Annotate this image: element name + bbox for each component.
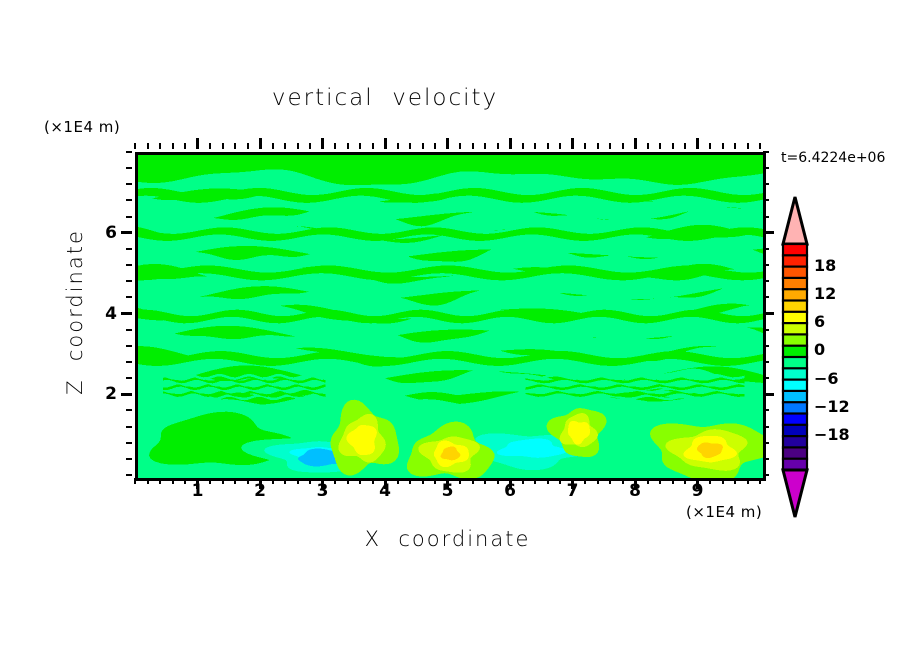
x-tick-minor-top [222, 143, 224, 149]
y-tick-label: 2 [87, 384, 117, 404]
colorbar-tick-label: 18 [814, 256, 836, 275]
y-tick-minor [126, 280, 132, 282]
y-tick-minor-right [763, 280, 769, 282]
x-tick-minor-top [584, 143, 586, 149]
y-tick-label: 6 [87, 223, 117, 243]
x-tick-minor [759, 478, 761, 484]
y-tick-minor [126, 361, 132, 363]
x-tick-minor [609, 478, 611, 484]
timestamp-annotation: t=6.4224e+06 [781, 150, 885, 166]
y-tick-label: 4 [87, 304, 117, 324]
x-tick-minor-top [359, 143, 361, 149]
y-tick-minor [126, 296, 132, 298]
page-title: vertical velocity [0, 85, 770, 111]
colorbar-tick-label: −12 [814, 397, 850, 416]
y-tick-minor [126, 151, 132, 153]
x-tick-minor [172, 478, 174, 484]
x-tick-major-top [509, 138, 512, 149]
x-tick-minor-top [434, 143, 436, 149]
y-tick-minor [126, 474, 132, 476]
x-tick-minor [234, 478, 236, 484]
x-tick-major-top [571, 138, 574, 149]
x-tick-minor-top [309, 143, 311, 149]
x-tick-minor-top [747, 143, 749, 149]
contour-field [138, 155, 763, 478]
y-tick-minor-right [763, 296, 769, 298]
y-tick-minor-right [763, 248, 769, 250]
y-tick-minor [126, 248, 132, 250]
x-tick-minor [672, 478, 674, 484]
x-tick-minor-top [709, 143, 711, 149]
x-tick-major-top [634, 138, 637, 149]
x-tick-minor [284, 478, 286, 484]
x-tick-minor-top [484, 143, 486, 149]
y-axis-units-label: (×1E4 m) [44, 118, 120, 136]
x-tick-minor-top [597, 143, 599, 149]
x-tick-minor-top [147, 143, 149, 149]
y-tick-minor-right [763, 458, 769, 460]
y-tick-minor-right [763, 377, 769, 379]
colorbar-tick-label: 0 [814, 340, 825, 359]
x-tick-minor [359, 478, 361, 484]
y-tick-major [121, 231, 132, 234]
y-tick-minor-right [763, 151, 769, 153]
y-tick-minor [126, 409, 132, 411]
x-tick-major-top [696, 138, 699, 149]
x-tick-minor [147, 478, 149, 484]
x-tick-minor [534, 478, 536, 484]
x-tick-minor-top [759, 143, 761, 149]
x-tick-minor-top [534, 143, 536, 149]
y-tick-major [121, 312, 132, 315]
x-tick-minor-top [409, 143, 411, 149]
y-tick-minor-right [763, 442, 769, 444]
y-tick-minor-right [763, 264, 769, 266]
y-tick-minor [126, 183, 132, 185]
x-tick-label: 8 [615, 481, 655, 501]
colorbar-svg [780, 196, 810, 518]
contour-figure: vertical velocity (×1E4 m) (×1E4 m) t=6.… [0, 0, 904, 654]
colorbar-tick-label: −18 [814, 425, 850, 444]
y-tick-minor [126, 216, 132, 218]
x-tick-minor [734, 478, 736, 484]
x-tick-minor [134, 478, 136, 484]
x-tick-minor-top [734, 143, 736, 149]
x-tick-minor-top [159, 143, 161, 149]
x-tick-major-top [196, 138, 199, 149]
y-tick-minor [126, 458, 132, 460]
contour-plot-svg [138, 155, 763, 478]
y-tick-major-right [763, 393, 774, 396]
x-tick-label: 7 [553, 481, 593, 501]
x-tick-major-top [259, 138, 262, 149]
colorbar-tick-label: −6 [814, 369, 839, 388]
y-tick-minor [126, 377, 132, 379]
y-tick-minor [126, 442, 132, 444]
x-tick-minor-top [684, 143, 686, 149]
x-tick-label: 3 [303, 481, 343, 501]
x-tick-minor-top [622, 143, 624, 149]
x-tick-minor [159, 478, 161, 484]
x-tick-minor [597, 478, 599, 484]
x-tick-minor-top [522, 143, 524, 149]
y-tick-minor [126, 426, 132, 428]
y-tick-major-right [763, 231, 774, 234]
x-tick-minor [547, 478, 549, 484]
y-tick-major [121, 393, 132, 396]
x-tick-minor-top [184, 143, 186, 149]
y-tick-minor-right [763, 329, 769, 331]
x-tick-major-top [321, 138, 324, 149]
x-tick-minor [659, 478, 661, 484]
x-tick-minor-top [297, 143, 299, 149]
x-axis-units-label: (×1E4 m) [686, 503, 762, 521]
x-tick-minor-top [234, 143, 236, 149]
x-tick-minor [409, 478, 411, 484]
x-tick-minor-top [497, 143, 499, 149]
x-axis-title: X coordinate [135, 527, 760, 551]
colorbar [780, 196, 810, 518]
y-tick-minor-right [763, 345, 769, 347]
x-tick-minor-top [272, 143, 274, 149]
x-tick-minor-top [397, 143, 399, 149]
x-tick-minor-top [609, 143, 611, 149]
y-tick-minor [126, 167, 132, 169]
x-tick-minor-top [247, 143, 249, 149]
x-tick-minor-top [459, 143, 461, 149]
x-tick-minor-top [347, 143, 349, 149]
x-tick-label: 9 [678, 481, 718, 501]
y-tick-minor-right [763, 216, 769, 218]
x-tick-minor [347, 478, 349, 484]
y-tick-minor-right [763, 183, 769, 185]
y-tick-minor [126, 345, 132, 347]
x-tick-label: 4 [365, 481, 405, 501]
x-tick-minor-top [134, 143, 136, 149]
y-tick-minor [126, 329, 132, 331]
x-tick-minor-top [172, 143, 174, 149]
y-tick-minor-right [763, 361, 769, 363]
y-tick-minor-right [763, 474, 769, 476]
x-tick-label: 5 [428, 481, 468, 501]
x-tick-minor-top [722, 143, 724, 149]
x-tick-minor-top [372, 143, 374, 149]
colorbar-tick-label: 12 [814, 284, 836, 303]
x-tick-minor-top [559, 143, 561, 149]
y-tick-major-right [763, 312, 774, 315]
y-tick-minor-right [763, 199, 769, 201]
x-tick-minor [472, 478, 474, 484]
x-tick-minor-top [422, 143, 424, 149]
x-tick-minor-top [547, 143, 549, 149]
y-tick-minor [126, 199, 132, 201]
x-tick-minor-top [647, 143, 649, 149]
x-tick-minor [222, 478, 224, 484]
x-tick-label: 6 [490, 481, 530, 501]
x-tick-minor-top [659, 143, 661, 149]
x-tick-minor [484, 478, 486, 484]
x-tick-label: 2 [240, 481, 280, 501]
x-tick-minor [422, 478, 424, 484]
x-tick-minor-top [284, 143, 286, 149]
y-tick-minor-right [763, 167, 769, 169]
colorbar-tick-label: 6 [814, 312, 825, 331]
y-tick-minor [126, 264, 132, 266]
y-tick-minor-right [763, 409, 769, 411]
x-tick-minor [297, 478, 299, 484]
x-tick-minor-top [334, 143, 336, 149]
x-tick-minor-top [672, 143, 674, 149]
x-tick-minor [747, 478, 749, 484]
x-tick-minor-top [209, 143, 211, 149]
x-tick-major-top [446, 138, 449, 149]
x-tick-minor [722, 478, 724, 484]
y-tick-minor-right [763, 426, 769, 428]
x-tick-label: 1 [178, 481, 218, 501]
plot-area [135, 152, 766, 481]
x-tick-major-top [384, 138, 387, 149]
x-tick-minor-top [472, 143, 474, 149]
y-axis-title: Z coordinate [63, 202, 87, 422]
